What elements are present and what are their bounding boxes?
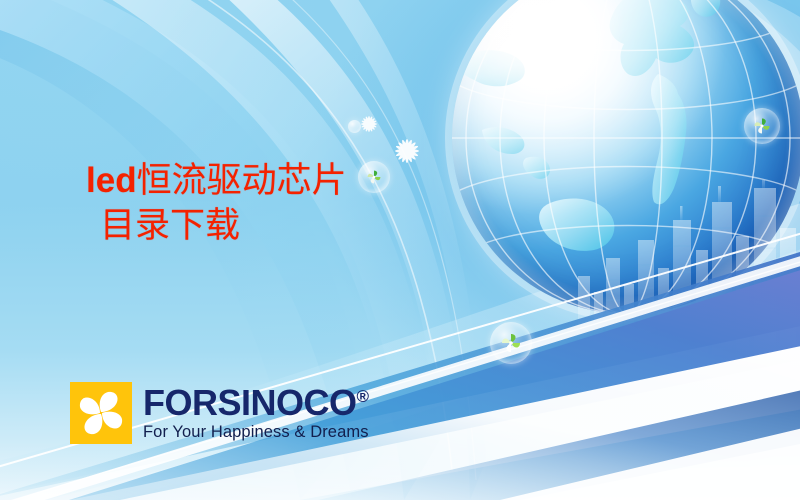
headline-han: 恒流驱动芯片 — [137, 161, 347, 201]
bubble-pinwheel-right — [744, 108, 780, 144]
company-logo: FORSINOCO® For Your Happiness & Dreams — [70, 382, 369, 444]
diagonal-ribbon-bands — [0, 210, 800, 500]
brand-name-text: FORSINOCO — [143, 382, 357, 423]
headline-line-2: 目录下载 — [100, 206, 347, 247]
promo-banner: led恒流驱动芯片 目录下载 FORSINOCO® For Your Happi… — [0, 0, 800, 500]
logo-wordmark: FORSINOCO® For Your Happiness & Dreams — [143, 385, 369, 441]
brand-tagline: For Your Happiness & Dreams — [143, 424, 369, 441]
pinwheel-icon — [752, 116, 772, 136]
headline-line-1: led恒流驱动芯片 — [86, 160, 347, 202]
pinwheel-icon — [499, 331, 523, 355]
pinwheel-icon — [366, 169, 383, 186]
four-petal-pinwheel-icon — [70, 382, 132, 444]
logo-mark-square — [70, 382, 132, 444]
brand-name: FORSINOCO® — [143, 385, 369, 421]
registered-trademark-symbol: ® — [357, 387, 369, 406]
bubble-pinwheel-lower — [490, 322, 532, 364]
bubble-pinwheel-center — [358, 161, 390, 193]
headline-latin: led — [86, 161, 137, 200]
headline-text: led恒流驱动芯片 目录下载 — [86, 160, 347, 248]
bubble-small-upper — [348, 120, 361, 133]
